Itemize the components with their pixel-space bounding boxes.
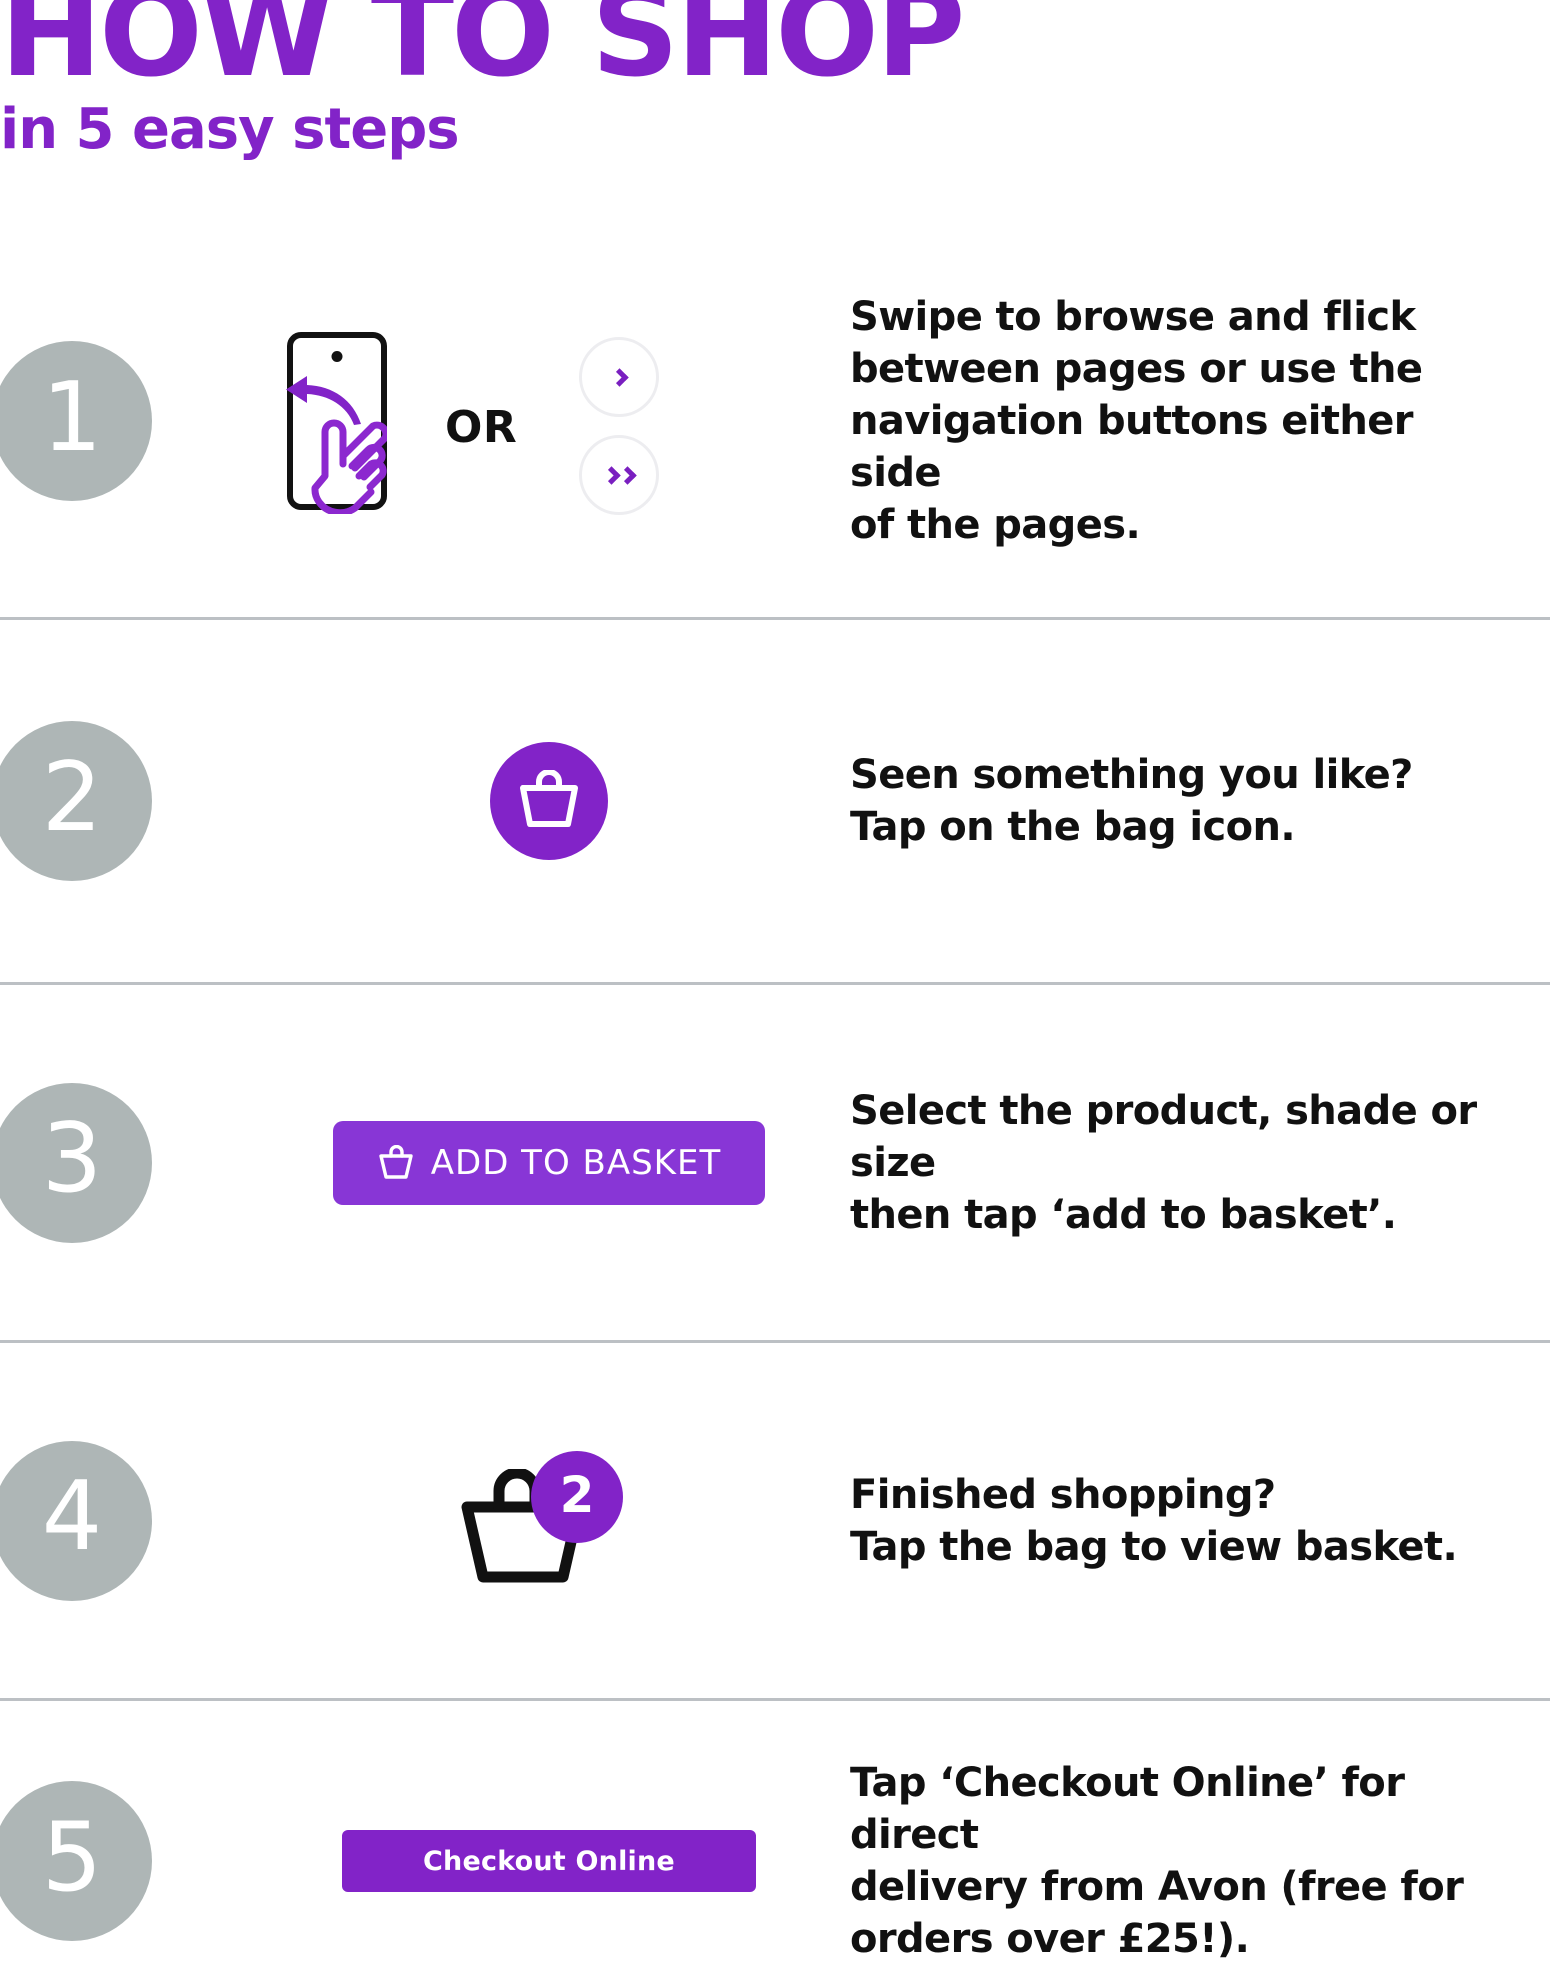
step-text-column: Seen something you like? Tap on the bag … [850,749,1550,853]
step-text-column: Swipe to browse and flick between pages … [850,291,1550,551]
page-subtitle: in 5 easy steps [0,100,1100,160]
page-title: HOW TO SHOP [0,0,1100,92]
steps-list: 1 [0,225,1550,1963]
next-page-button[interactable] [579,337,659,417]
step-number-label: 2 [42,751,102,846]
chevron-double-right-icon [605,469,634,482]
checkout-online-label: Checkout Online [423,1846,675,1877]
step-number-badge: 1 [0,341,152,501]
navigation-buttons-group [579,337,659,515]
step-item-3: 3 ADD TO BASKET Select the product, shad… [0,985,1550,1340]
shopping-bag-icon [515,770,583,832]
checkout-online-button[interactable]: Checkout Online [342,1830,756,1892]
step-description: Select the product, shade or size then t… [850,1085,1510,1241]
step-visual-column: Checkout Online [248,1701,850,1963]
add-to-basket-label: ADD TO BASKET [431,1143,721,1183]
step-item-4: 4 2 Finished shopping? Tap the bag to vi… [0,1343,1550,1698]
or-separator-label: OR [445,402,517,453]
step-item-5: 5 Checkout Online Tap ‘Checkout Online’ … [0,1701,1550,1963]
step-number-label: 5 [42,1811,102,1906]
add-to-basket-button[interactable]: ADD TO BASKET [333,1121,765,1205]
step-number-label: 1 [42,371,102,466]
step-description: Seen something you like? Tap on the bag … [850,749,1510,853]
step-number-column: 3 [0,985,248,1340]
page-header: HOW TO SHOP in 5 easy steps [0,0,1100,160]
step-number-badge: 2 [0,721,152,881]
shopping-bag-button[interactable] [490,742,608,860]
step-text-column: Tap ‘Checkout Online’ for direct deliver… [850,1757,1550,1963]
step-description: Swipe to browse and flick between pages … [850,291,1510,551]
phone-camera-dot-icon [332,351,343,362]
step-text-column: Select the product, shade or size then t… [850,1085,1550,1241]
basket-icon [377,1145,415,1181]
step-visual-column: ADD TO BASKET [248,985,850,1340]
step-visual-column: 2 [248,1343,850,1698]
how-to-shop-page: HOW TO SHOP in 5 easy steps 1 [0,0,1550,1963]
chevron-right-icon [610,368,628,386]
skip-pages-button[interactable] [579,435,659,515]
chevron-right-icon-b [618,466,636,484]
basket-with-count-illustration[interactable]: 2 [459,1451,639,1591]
step-number-badge: 5 [0,1781,152,1941]
step-item-1: 1 [0,225,1550,617]
step-number-badge: 4 [0,1441,152,1601]
step-description: Tap ‘Checkout Online’ for direct deliver… [850,1757,1510,1963]
hand-tap-icon [295,404,387,514]
basket-count-label: 2 [560,1466,595,1524]
step-description: Finished shopping? Tap the bag to view b… [850,1469,1510,1573]
step-visual-column: OR [248,225,850,617]
step-number-badge: 3 [0,1083,152,1243]
phone-swipe-illustration: OR [269,286,829,556]
step-item-2: 2 Seen something you like? Tap on the ba… [0,620,1550,982]
basket-count-badge: 2 [531,1451,623,1543]
step-number-column: 2 [0,620,248,982]
step-number-label: 3 [42,1112,102,1207]
step-visual-column [248,620,850,982]
step-number-column: 1 [0,225,248,617]
step-number-column: 5 [0,1701,248,1963]
step-number-label: 4 [42,1470,102,1565]
step-text-column: Finished shopping? Tap the bag to view b… [850,1469,1550,1573]
step-number-column: 4 [0,1343,248,1698]
